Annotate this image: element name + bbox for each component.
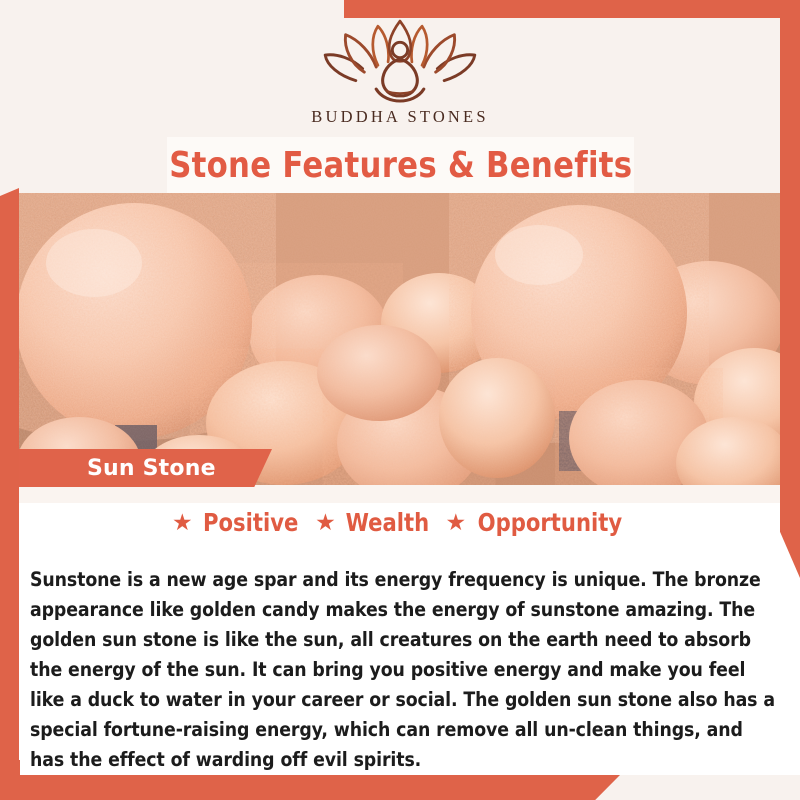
frame-left-edge bbox=[0, 188, 19, 788]
keyword-label: Wealth bbox=[345, 508, 429, 537]
stone-photo bbox=[19, 193, 780, 485]
keyword-wealth: ★ Wealth bbox=[315, 508, 431, 537]
keyword-label: Positive bbox=[203, 508, 298, 537]
frame-right-edge bbox=[780, 0, 800, 578]
keyword-row: ★ Positive ★ Wealth ★ Opportunity bbox=[19, 508, 780, 537]
stone-name: Sun Stone bbox=[87, 456, 216, 481]
brand-name: BUDDHA STONES bbox=[311, 107, 488, 127]
frame-bottom-edge bbox=[0, 775, 620, 800]
stone-name-badge: Sun Stone bbox=[19, 449, 272, 487]
keyword-opportunity: ★ Opportunity bbox=[446, 508, 627, 537]
star-icon: ★ bbox=[172, 511, 193, 534]
panel-top-tint bbox=[19, 485, 800, 503]
star-icon: ★ bbox=[315, 511, 336, 534]
keyword-positive: ★ Positive bbox=[172, 508, 301, 537]
lotus-meditation-icon bbox=[315, 16, 485, 104]
page-title: Stone Features & Benefits bbox=[169, 145, 632, 186]
section-title-banner: Stone Features & Benefits bbox=[167, 137, 634, 193]
frame-top-edge bbox=[344, 0, 800, 18]
brand-logo: BUDDHA STONES bbox=[0, 16, 800, 127]
star-icon: ★ bbox=[446, 511, 467, 534]
product-info-card: BUDDHA STONES Stone Features & Benefits bbox=[0, 0, 800, 800]
stone-description: Sunstone is a new age spar and its energ… bbox=[30, 565, 775, 775]
keyword-label: Opportunity bbox=[478, 508, 623, 537]
